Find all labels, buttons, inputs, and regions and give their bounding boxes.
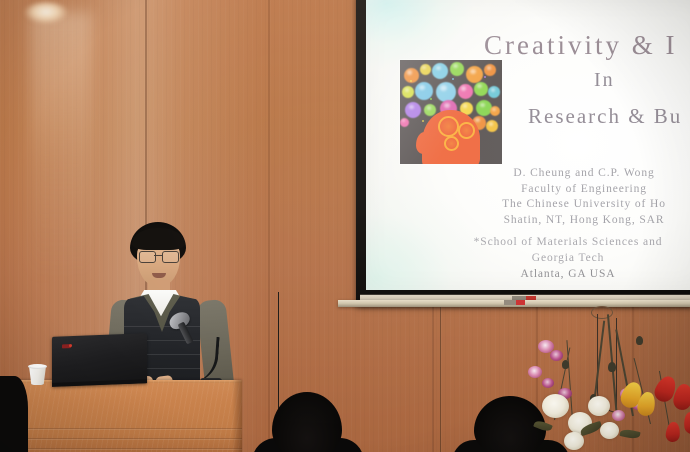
white-chrysanthemum bbox=[588, 396, 610, 416]
slide-author-block: D. Cheung and C.P. Wong Faculty of Engin… bbox=[440, 166, 690, 228]
slide-affiliation-line: Georgia Tech bbox=[418, 250, 690, 266]
gear-icon bbox=[458, 122, 475, 139]
brainstorm-head-bubbles-graphic bbox=[400, 60, 502, 164]
flower-bud bbox=[636, 336, 643, 345]
red-tulip bbox=[683, 411, 690, 434]
red-tulip bbox=[665, 421, 681, 442]
whiteboard-ledge bbox=[338, 300, 690, 307]
ceiling-light-reflection bbox=[24, 2, 68, 24]
glasses-lens-right bbox=[162, 251, 179, 263]
head-neck bbox=[434, 150, 460, 164]
slide-author-line: Shatin, NT, Hong Kong, SAR bbox=[440, 213, 690, 229]
podium-groove bbox=[0, 448, 242, 450]
wall-panel-seam bbox=[432, 300, 434, 452]
podium-groove bbox=[0, 428, 242, 430]
paper-cup-rim bbox=[28, 364, 47, 369]
slide-author-line: The Chinese University of Ho bbox=[440, 197, 690, 213]
presentation-photo-scene: Creativity & I In Research & Bu D. Cheun… bbox=[0, 0, 690, 452]
laptop-brand-logo bbox=[62, 344, 71, 348]
slide-subtitle-research: Research & Bu bbox=[528, 104, 682, 129]
slide-subtitle-in: In bbox=[594, 69, 615, 92]
podium-groove bbox=[0, 438, 242, 440]
white-chrysanthemum bbox=[542, 394, 569, 418]
pink-flower bbox=[612, 410, 625, 421]
flower-bud bbox=[562, 360, 569, 369]
pink-flower bbox=[528, 366, 542, 378]
audience-head-edge bbox=[0, 376, 28, 452]
flower-bud bbox=[608, 362, 616, 372]
wall-panel-seam bbox=[268, 0, 270, 452]
glasses-bridge bbox=[154, 255, 162, 256]
slide-author-line: Faculty of Engineering bbox=[440, 182, 690, 198]
wall-light-reflection bbox=[30, 12, 92, 282]
head-profile-nose bbox=[416, 132, 430, 154]
podium-right-edge bbox=[232, 380, 242, 452]
slide-affiliation-line: Atlanta, GA USA bbox=[418, 266, 690, 282]
glasses-lens-left bbox=[139, 251, 156, 263]
slide-affiliation-block: *School of Materials Sciences and Georgi… bbox=[418, 234, 690, 282]
presenter-laptop bbox=[52, 333, 147, 387]
presentation-slide: Creativity & I In Research & Bu D. Cheun… bbox=[366, 0, 690, 290]
flower-leaf bbox=[619, 428, 640, 440]
magenta-flower bbox=[542, 378, 554, 388]
magenta-flower bbox=[550, 350, 563, 361]
projection-screen-surface: Creativity & I In Research & Bu D. Cheun… bbox=[366, 0, 690, 290]
projection-screen: Creativity & I In Research & Bu D. Cheun… bbox=[356, 0, 690, 306]
slide-affiliation-line: *School of Materials Sciences and bbox=[418, 234, 690, 250]
gear-icon bbox=[444, 136, 459, 151]
flower-arrangement bbox=[524, 326, 690, 452]
flower-leaf bbox=[533, 419, 553, 433]
presenter-hair-fringe bbox=[132, 228, 185, 250]
ledge-marker-red bbox=[516, 300, 525, 305]
podium-wood-grain bbox=[0, 380, 242, 452]
slide-title: Creativity & I bbox=[484, 30, 677, 61]
slide-author-line: D. Cheung and C.P. Wong bbox=[440, 166, 690, 182]
thin-wall-cable bbox=[440, 307, 441, 452]
gear-icon bbox=[438, 116, 459, 137]
lectern-podium bbox=[0, 380, 242, 452]
white-chrysanthemum bbox=[600, 422, 619, 439]
